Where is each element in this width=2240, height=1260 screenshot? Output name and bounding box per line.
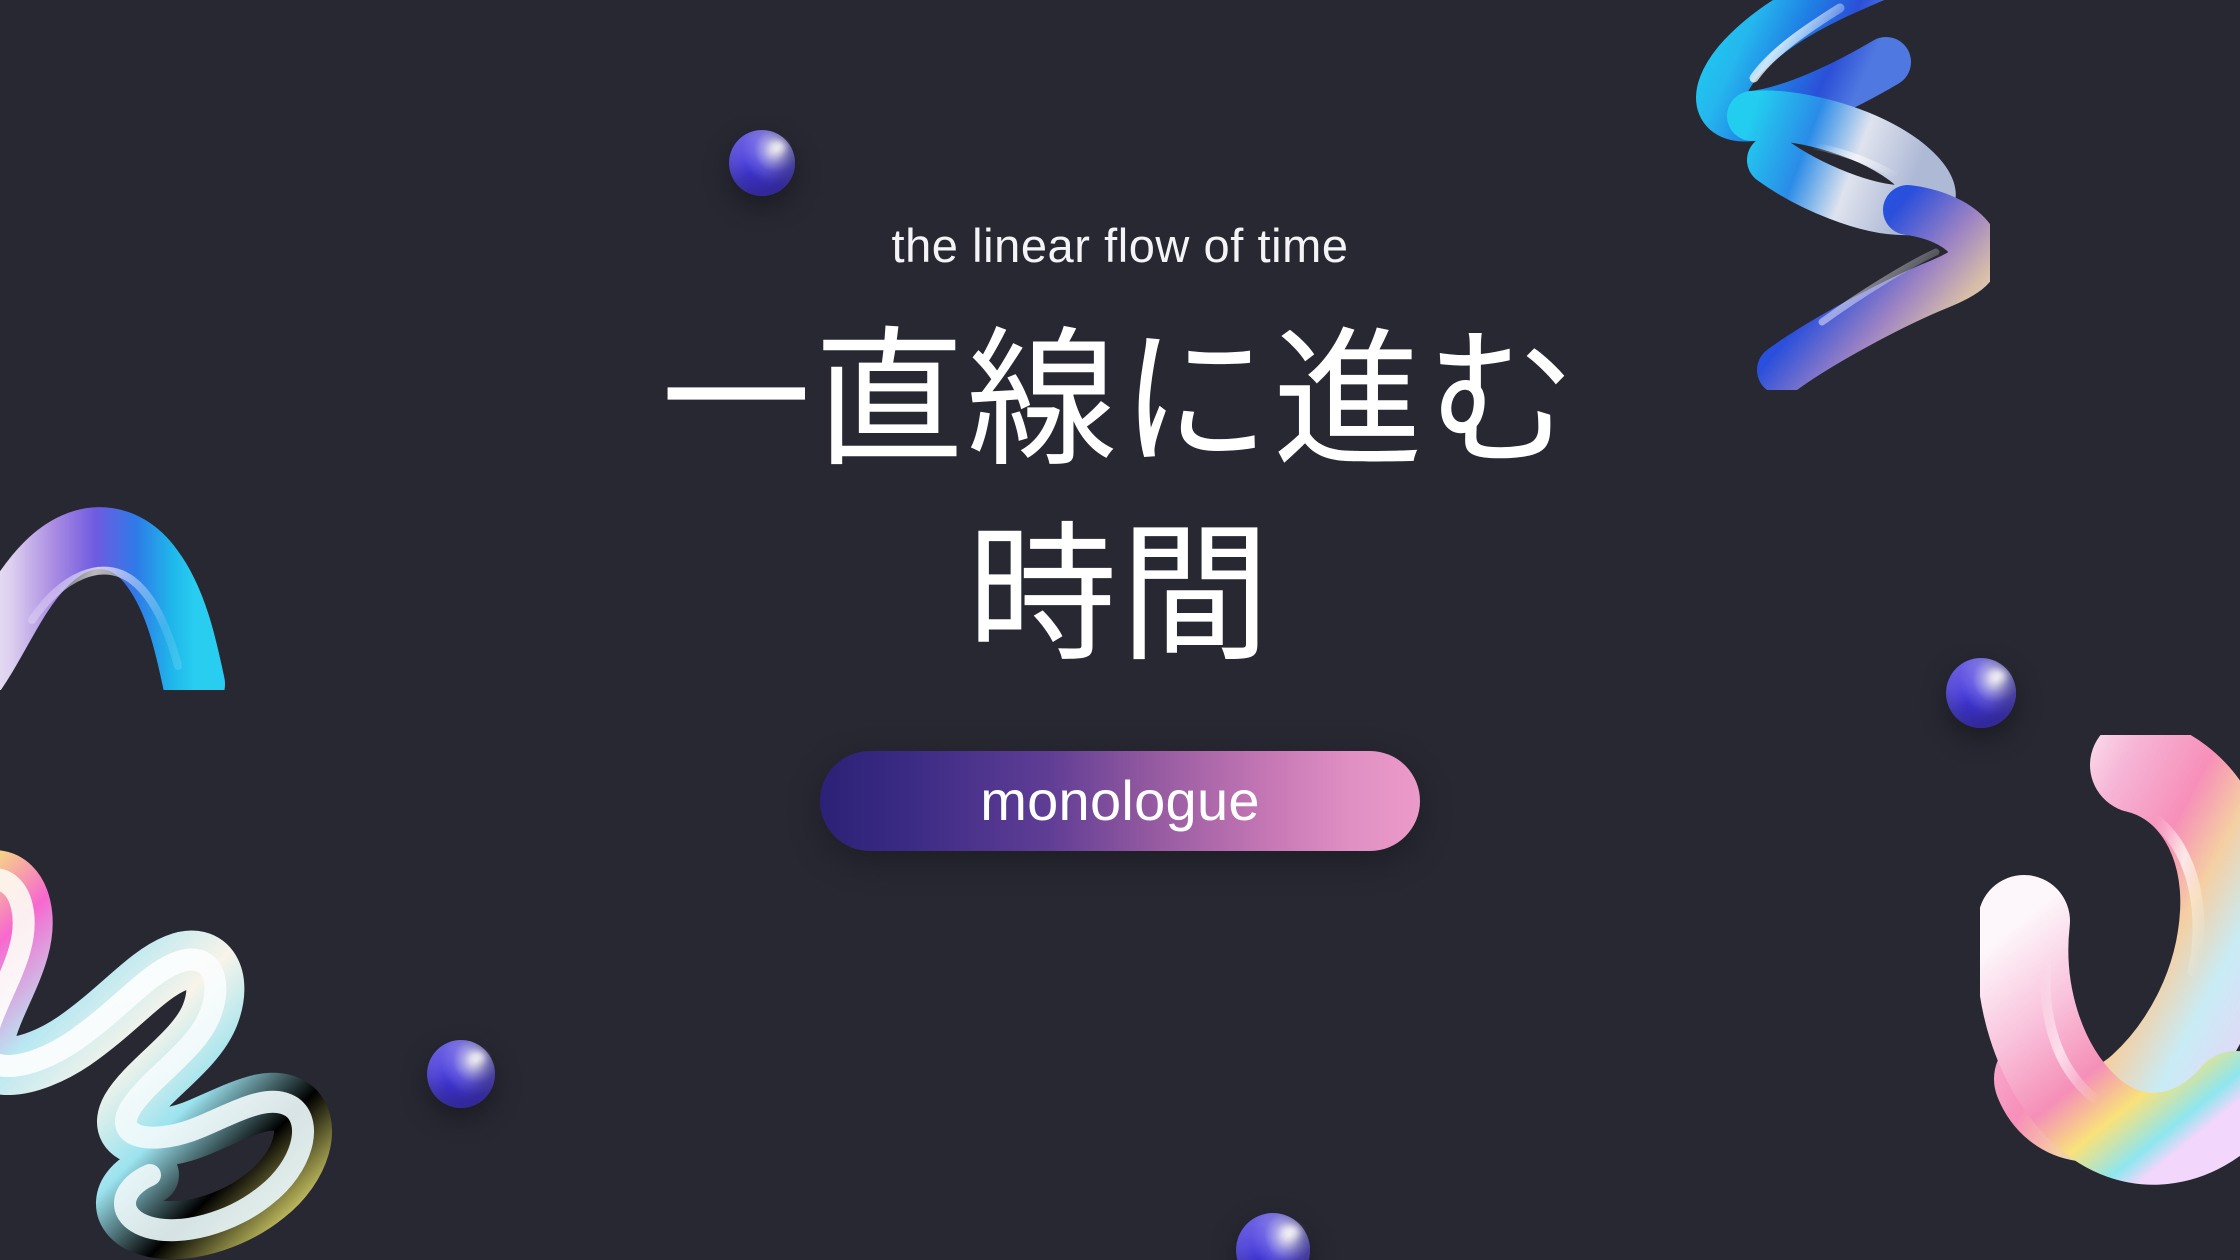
page-title: 一直線に進む 時間 bbox=[661, 305, 1579, 695]
eyebrow-subtitle: the linear flow of time bbox=[891, 222, 1348, 269]
hero-content: the linear flow of time 一直線に進む 時間 monolo… bbox=[0, 0, 2240, 1260]
monologue-button[interactable]: monologue bbox=[820, 751, 1420, 851]
slide-canvas: the linear flow of time 一直線に進む 時間 monolo… bbox=[0, 0, 2240, 1260]
monologue-button-label: monologue bbox=[980, 773, 1260, 829]
